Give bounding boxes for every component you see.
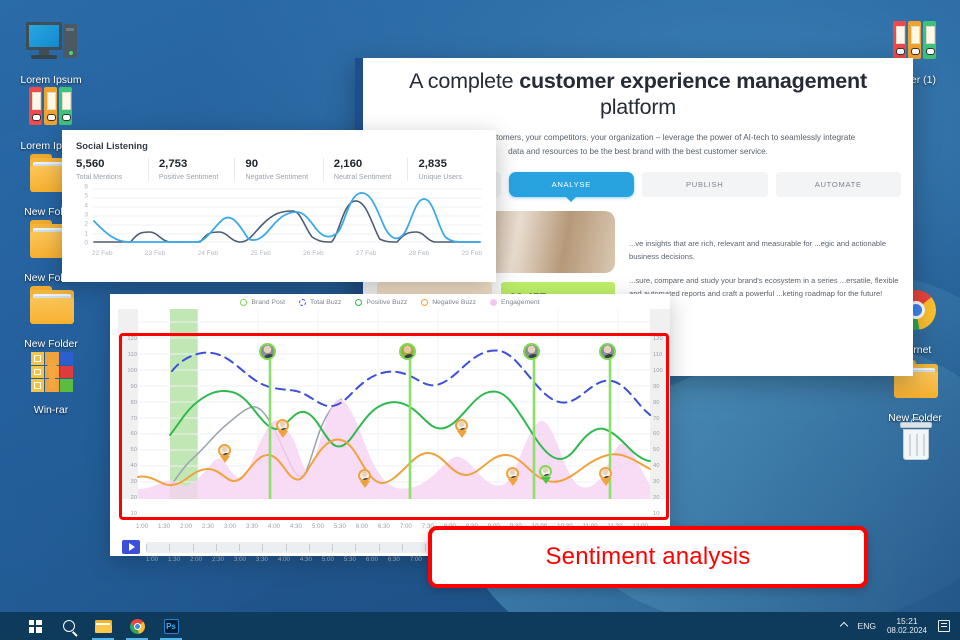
language-indicator[interactable]: ENG — [858, 621, 876, 631]
tab-publish[interactable]: PUBLISH — [642, 172, 768, 197]
search-button[interactable] — [52, 612, 86, 640]
x-tick: 5:30 — [344, 556, 356, 563]
legend-swatch-icon — [421, 299, 428, 306]
y-tick: 100 — [653, 368, 663, 374]
x-tick: 28 Feb — [409, 250, 430, 257]
legend-item[interactable]: Brand Post — [240, 299, 285, 306]
x-tick: 7:00 — [410, 556, 422, 563]
stat-value: 2,835 — [418, 158, 462, 170]
binders-icon — [22, 84, 80, 136]
x-tick: 29 Feb — [461, 250, 482, 257]
folder-icon — [22, 282, 80, 334]
sentiment-chart-window[interactable]: Brand PostTotal BuzzPositive BuzzNegativ… — [110, 294, 670, 556]
stat-value: 90 — [245, 158, 312, 170]
clock-date: 08.02.2024 — [887, 626, 927, 636]
legend-label: Negative Buzz — [432, 299, 476, 306]
chart-plot-area: 120110100908070605040302010 120110100908… — [114, 309, 666, 499]
x-tick: 2:30 — [202, 523, 214, 530]
page-title: A complete customer experience managemen… — [397, 68, 879, 120]
y-tick: 70 — [653, 416, 659, 422]
x-tick: 23 Feb — [145, 250, 166, 257]
y-tick: 2 — [84, 221, 88, 228]
x-tick: 6:30 — [388, 556, 400, 563]
stat-value: 5,560 — [76, 158, 138, 170]
y-tick: 1 — [84, 230, 88, 237]
comment-avatar-1[interactable] — [218, 444, 231, 457]
photoshop-icon: Ps — [164, 619, 179, 634]
stat-neutral-sentiment: 2,160 Neutral Sentiment — [334, 158, 409, 181]
desktop-icon-new-folder-3[interactable]: New Folder — [4, 282, 98, 350]
x-tick: 1:30 — [158, 523, 170, 530]
x-tick: 4:00 — [278, 556, 290, 563]
stat-value: 2,160 — [334, 158, 398, 170]
brand-post-avatar-1[interactable] — [259, 343, 276, 360]
brand-post-avatar-2[interactable] — [399, 343, 416, 360]
taskbar-chrome[interactable] — [120, 612, 154, 640]
y-tick: 40 — [653, 463, 659, 469]
search-icon — [63, 620, 75, 632]
legend-label: Engagement — [501, 299, 540, 306]
tab-analyse[interactable]: ANALYSE — [509, 172, 635, 197]
stat-unique-users: 2,835 Unique Users — [418, 158, 472, 181]
stat-label: Unique Users — [418, 172, 462, 181]
y-tick: 5 — [84, 193, 88, 200]
stat-positive-sentiment: 2,753 Positive Sentiment — [159, 158, 236, 181]
x-tick: 3:30 — [256, 556, 268, 563]
stat-value: 2,753 — [159, 158, 225, 170]
y-tick: 10 — [653, 511, 659, 517]
stat-total-mentions: 5,560 Total Mentions — [76, 158, 149, 181]
social-chart-plot — [92, 187, 482, 243]
notifications-icon[interactable] — [938, 620, 950, 632]
stat-label: Positive Sentiment — [159, 172, 225, 181]
chart-legend[interactable]: Brand PostTotal BuzzPositive BuzzNegativ… — [110, 294, 670, 309]
brand-post-avatar-3[interactable] — [523, 343, 540, 360]
legend-item[interactable]: Positive Buzz — [355, 299, 407, 306]
desktop-icon-winrar[interactable]: Win-rar — [4, 348, 98, 416]
x-tick: 7:00 — [400, 523, 412, 530]
x-tick: 5:00 — [322, 556, 334, 563]
windows-logo-icon — [29, 620, 42, 633]
social-listening-chart: 6543210 22 Feb23 Feb24 Feb25 Feb26 Feb27… — [76, 187, 482, 257]
y-tick: 0 — [84, 240, 88, 247]
taskbar-file-explorer[interactable] — [86, 612, 120, 640]
social-listening-title: Social Listening — [76, 140, 482, 151]
desktop-icon-recycle-bin[interactable] — [868, 418, 960, 474]
y-tick: 100 — [127, 368, 137, 374]
legend-label: Positive Buzz — [366, 299, 407, 306]
x-tick: 1:00 — [146, 556, 158, 563]
comment-avatar-3[interactable] — [358, 469, 371, 482]
y-tick: 60 — [653, 431, 659, 437]
y-tick: 40 — [131, 463, 137, 469]
legend-label: Total Buzz — [310, 299, 341, 306]
start-button[interactable] — [18, 612, 52, 640]
x-tick: 5:30 — [334, 523, 346, 530]
computer-icon — [22, 18, 80, 70]
y-tick: 3 — [84, 212, 88, 219]
x-tick: 25 Feb — [250, 250, 271, 257]
x-tick: 4:00 — [268, 523, 280, 530]
legend-swatch-icon — [490, 299, 497, 306]
taskbar[interactable]: Ps ENG 15:21 08.02.2024 — [0, 612, 960, 640]
stat-label: Neutral Sentiment — [334, 172, 398, 181]
y-tick: 120 — [653, 336, 663, 342]
chevron-up-icon[interactable] — [839, 622, 847, 630]
recycle-bin-icon — [886, 418, 944, 470]
legend-label: Brand Post — [251, 299, 285, 306]
comment-avatar-4[interactable] — [455, 419, 468, 432]
x-tick: 24 Feb — [198, 250, 219, 257]
x-tick: 2:00 — [180, 523, 192, 530]
tab-automate[interactable]: AUTOMATE — [776, 172, 902, 197]
legend-item[interactable]: Engagement — [490, 299, 540, 306]
taskbar-photoshop[interactable]: Ps — [154, 612, 188, 640]
x-tick: 3:00 — [224, 523, 236, 530]
chrome-icon — [130, 619, 145, 634]
social-chart-x-axis: 22 Feb23 Feb24 Feb25 Feb26 Feb27 Feb28 F… — [92, 250, 482, 257]
desktop-icon-lorem-ipsum-computer[interactable]: Lorem Ipsum — [4, 18, 98, 86]
x-tick: 27 Feb — [356, 250, 377, 257]
x-tick: 5:00 — [312, 523, 324, 530]
social-listening-window[interactable]: Social Listening 5,560 Total Mentions 2,… — [62, 130, 496, 282]
social-chart-y-axis: 6543210 — [76, 187, 90, 243]
description-paragraph-1: ...ve insights that are rich, relevant a… — [629, 237, 899, 263]
y-tick: 20 — [653, 495, 659, 501]
desktop-icon-label: Win-rar — [34, 404, 68, 416]
y-tick: 30 — [653, 479, 659, 485]
comment-avatar-7[interactable] — [599, 467, 612, 480]
x-tick: 3:30 — [246, 523, 258, 530]
y-tick: 80 — [653, 400, 659, 406]
legend-swatch-icon — [299, 299, 306, 306]
play-icon[interactable] — [122, 540, 140, 554]
clock-time: 15:21 — [887, 616, 927, 627]
y-tick: 20 — [131, 495, 137, 501]
x-tick: 2:00 — [190, 556, 202, 563]
x-tick: 1:00 — [136, 523, 148, 530]
chart-y-axis-right: 120110100908070605040302010 — [650, 333, 670, 520]
y-tick: 10 — [131, 511, 137, 517]
clock[interactable]: 15:21 08.02.2024 — [887, 616, 927, 637]
stat-label: Negative Sentiment — [245, 172, 312, 181]
x-tick: 6:00 — [356, 523, 368, 530]
x-tick: 6:00 — [366, 556, 378, 563]
comment-avatar-6[interactable] — [539, 465, 552, 478]
legend-swatch-icon — [240, 299, 247, 306]
callout-label: Sentiment analysis — [545, 543, 750, 571]
y-tick: 110 — [128, 352, 137, 358]
sentiment-chart-svg — [118, 309, 670, 499]
y-tick: 60 — [131, 431, 137, 437]
x-tick: 22 Feb — [92, 250, 113, 257]
stat-label: Total Mentions — [76, 172, 138, 181]
y-tick: 6 — [84, 184, 88, 191]
y-tick: 50 — [131, 447, 137, 453]
chart-y-axis-left: 120110100908070605040302010 — [120, 333, 140, 520]
x-tick: 2:30 — [212, 556, 224, 563]
brand-post-avatar-4[interactable] — [599, 343, 616, 360]
legend-item[interactable]: Negative Buzz — [421, 299, 476, 306]
winrar-icon — [22, 348, 80, 400]
legend-item[interactable]: Total Buzz — [299, 299, 341, 306]
y-tick: 120 — [127, 336, 137, 342]
y-tick: 4 — [84, 202, 88, 209]
y-tick: 90 — [131, 384, 137, 390]
y-tick: 110 — [653, 352, 662, 358]
x-tick: 6:30 — [378, 523, 390, 530]
legend-swatch-icon — [355, 299, 362, 306]
stat-negative-sentiment: 90 Negative Sentiment — [245, 158, 323, 181]
x-tick: 1:30 — [168, 556, 180, 563]
x-tick: 3:00 — [234, 556, 246, 563]
x-tick: 4:30 — [290, 523, 302, 530]
x-tick: 4:30 — [300, 556, 312, 563]
callout-sentiment-analysis: Sentiment analysis — [428, 526, 868, 588]
comment-avatar-5[interactable] — [506, 467, 519, 480]
y-tick: 80 — [131, 400, 137, 406]
y-tick: 90 — [653, 384, 659, 390]
folder-icon — [95, 620, 112, 633]
y-tick: 70 — [131, 416, 137, 422]
y-tick: 30 — [131, 479, 137, 485]
x-tick: 26 Feb — [303, 250, 324, 257]
comment-avatar-2[interactable] — [276, 419, 289, 432]
social-stats-row: 5,560 Total Mentions 2,753 Positive Sent… — [76, 158, 482, 181]
y-tick: 50 — [653, 447, 659, 453]
social-chart-svg — [92, 187, 482, 243]
